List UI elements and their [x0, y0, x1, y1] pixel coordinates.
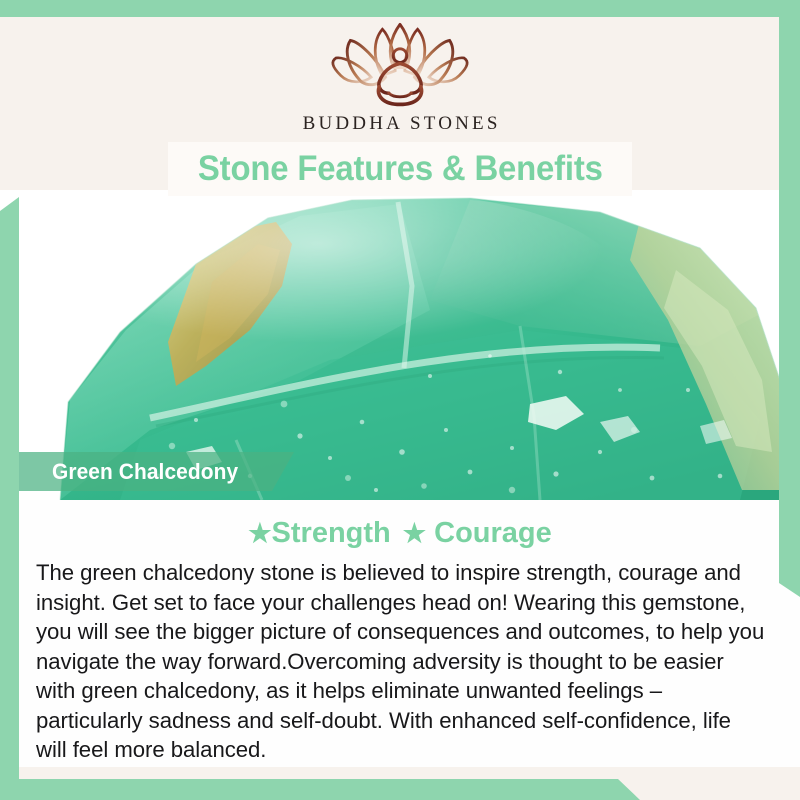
frame-bottom-band — [0, 779, 640, 800]
page-title: Stone Features & Benefits — [198, 149, 603, 189]
brand-name: BUDDHA STONES — [0, 113, 800, 135]
frame-left-band — [0, 197, 19, 800]
keyword-courage: Courage — [434, 517, 552, 549]
frame-top-band — [0, 0, 800, 17]
frame-right-band — [779, 0, 800, 597]
description-paragraph: The green chalcedony stone is believed t… — [36, 558, 765, 765]
star-icon: ★ — [248, 518, 271, 548]
brand-logo: BUDDHA STONES — [0, 18, 800, 135]
body-panel: ★Strength★ Courage The green chalcedony … — [0, 500, 800, 767]
keyword-row: ★Strength★ Courage — [0, 517, 800, 550]
star-icon: ★ — [403, 518, 426, 548]
lotus-meditation-icon — [320, 18, 480, 110]
stone-info-poster: BUDDHA STONES — [0, 0, 800, 800]
title-plate: Stone Features & Benefits — [168, 142, 632, 196]
stone-caption-banner: Green Chalcedony — [18, 452, 294, 491]
keyword-strength: Strength — [272, 517, 391, 549]
stone-name-label: Green Chalcedony — [52, 459, 238, 485]
